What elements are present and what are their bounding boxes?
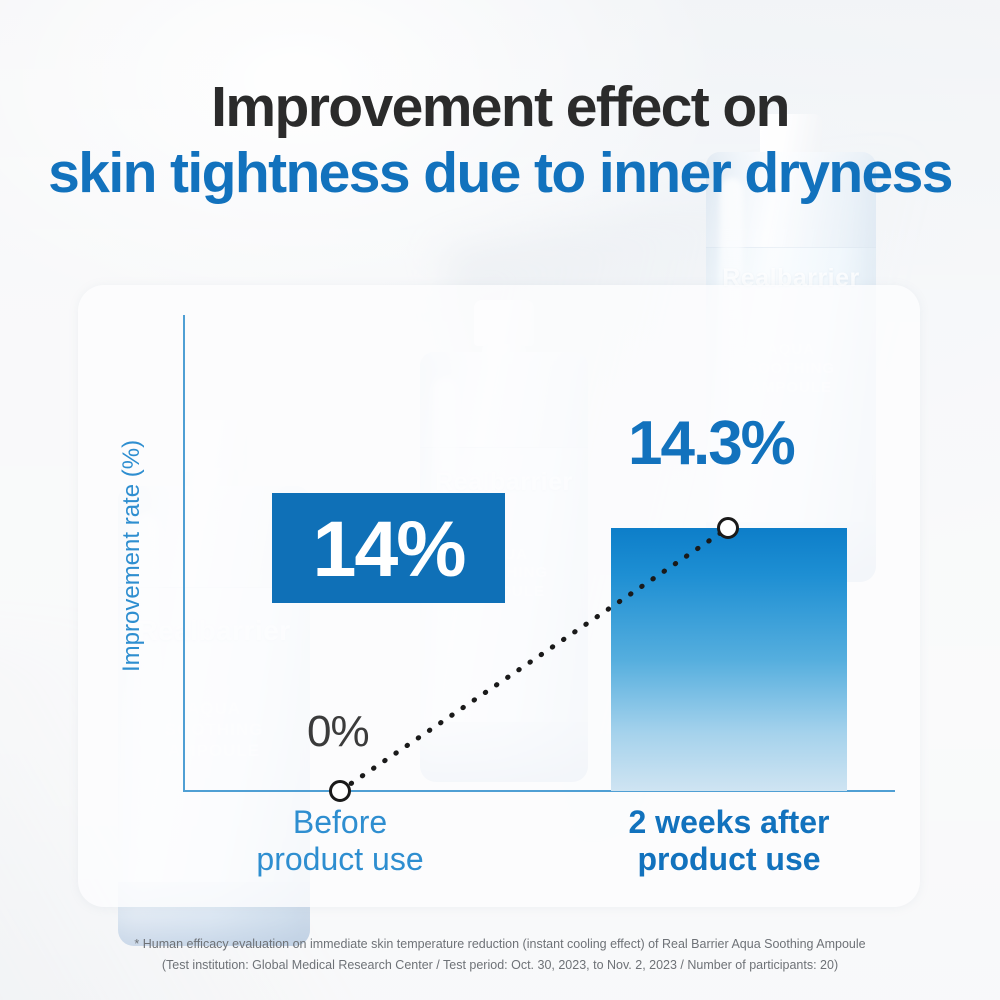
page-title-line1: Improvement effect on [0,78,1000,138]
page-title-line2: skin tightness due to inner dryness [0,144,1000,204]
footnote-line2: (Test institution: Global Medical Resear… [0,955,1000,976]
infographic-root: Realbarrier AQUA SOOTHING AMPOULE Realba… [0,0,1000,1000]
heading-block: Improvement effect on skin tightness due… [0,78,1000,204]
footnote: * Human efficacy evaluation on immediate… [0,934,1000,975]
chart-card [78,285,920,907]
footnote-line1: * Human efficacy evaluation on immediate… [0,934,1000,955]
